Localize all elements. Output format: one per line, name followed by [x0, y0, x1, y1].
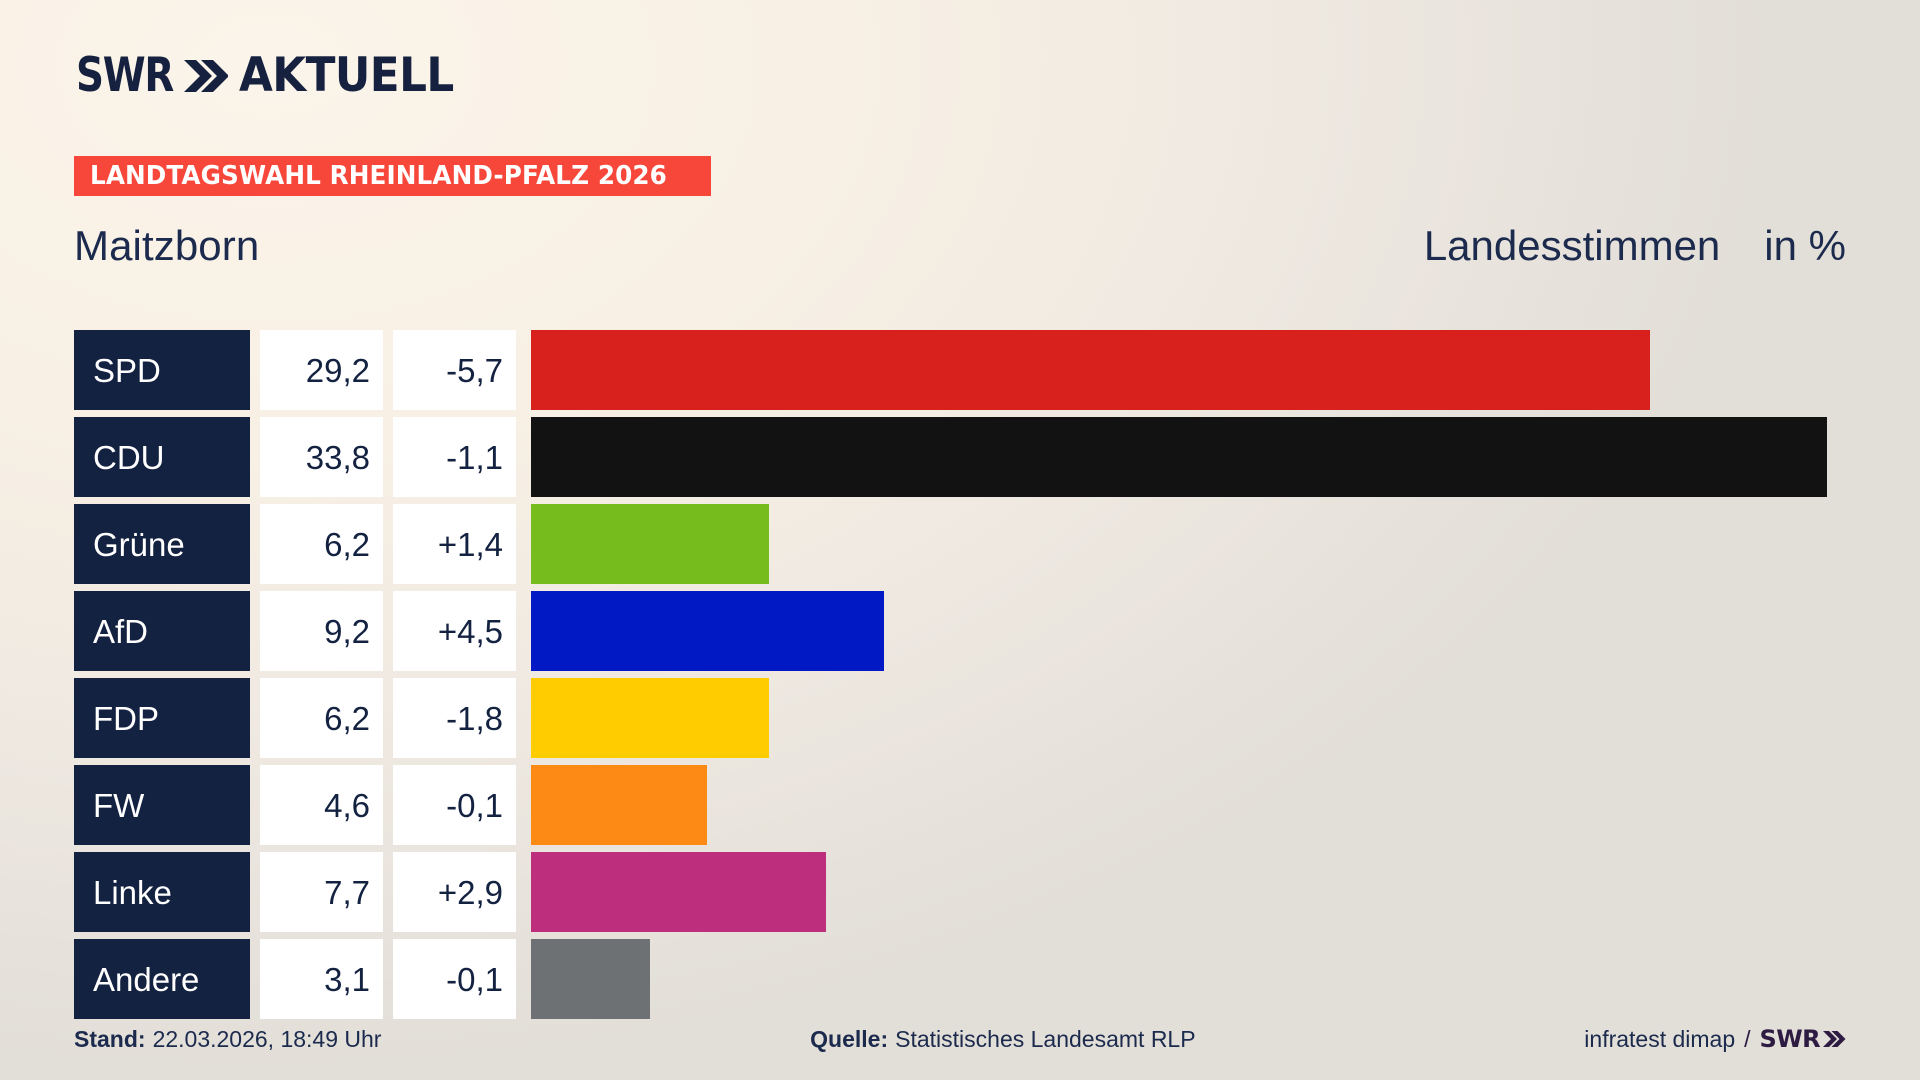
- party-share-value: 33,8: [306, 441, 370, 474]
- party-change-cell: +2,9: [393, 852, 516, 932]
- party-share-value: 4,6: [324, 789, 370, 822]
- party-name: FDP: [93, 702, 159, 735]
- bar-track: [531, 678, 1846, 758]
- party-name: Grüne: [93, 528, 185, 561]
- party-name: CDU: [93, 441, 165, 474]
- chart-row: Grüne6,2+1,4: [74, 504, 1846, 584]
- footer-source: Quelle:Statistisches Landesamt RLP: [381, 1026, 1584, 1053]
- party-share-value: 6,2: [324, 528, 370, 561]
- result-bar: [531, 330, 1650, 410]
- party-change-value: +2,9: [438, 876, 503, 909]
- infographic-root: SWR AKTUELL LANDTAGSWAHL RHEINLAND-PFALZ…: [0, 0, 1920, 1080]
- bar-track: [531, 852, 1846, 932]
- stand-label: Stand:: [74, 1026, 146, 1052]
- party-change-cell: -5,7: [393, 330, 516, 410]
- chart-row: AfD9,2+4,5: [74, 591, 1846, 671]
- credits-separator: /: [1744, 1026, 1750, 1053]
- chart-row: CDU33,8-1,1: [74, 417, 1846, 497]
- stand-value: 22.03.2026, 18:49 Uhr: [153, 1026, 382, 1052]
- chart-header-labels: Landesstimmen in %: [1424, 225, 1846, 267]
- party-share-value: 7,7: [324, 876, 370, 909]
- subheader-row: Maitzborn Landesstimmen in %: [74, 218, 1846, 274]
- party-change-value: -1,8: [446, 702, 503, 735]
- footer: Stand:22.03.2026, 18:49 Uhr Quelle:Stati…: [74, 1022, 1846, 1056]
- result-bar: [531, 504, 769, 584]
- party-change-cell: -1,8: [393, 678, 516, 758]
- party-change-value: -0,1: [446, 963, 503, 996]
- result-bar: [531, 591, 884, 671]
- result-bar: [531, 852, 826, 932]
- result-bar: [531, 678, 769, 758]
- party-name: Andere: [93, 963, 199, 996]
- footer-credits: infratest dimap / SWR: [1584, 1025, 1846, 1053]
- logo-swr-text: SWR: [76, 52, 173, 99]
- quelle-value: Statistisches Landesamt RLP: [895, 1026, 1195, 1052]
- bar-track: [531, 417, 1846, 497]
- bar-track: [531, 330, 1846, 410]
- footer-swr-text: SWR: [1760, 1025, 1820, 1053]
- agency-name: infratest dimap: [1584, 1026, 1735, 1053]
- double-chevron-right-icon: [182, 56, 228, 96]
- party-change-cell: -0,1: [393, 765, 516, 845]
- party-share-cell: 29,2: [260, 330, 383, 410]
- party-share-value: 9,2: [324, 615, 370, 648]
- page-title: Maitzborn: [74, 225, 259, 267]
- party-change-value: -0,1: [446, 789, 503, 822]
- party-name: SPD: [93, 354, 161, 387]
- party-share-cell: 33,8: [260, 417, 383, 497]
- chart-row: Linke7,7+2,9: [74, 852, 1846, 932]
- party-share-value: 6,2: [324, 702, 370, 735]
- party-share-value: 29,2: [306, 354, 370, 387]
- result-bar: [531, 417, 1827, 497]
- chart-row: SPD29,2-5,7: [74, 330, 1846, 410]
- party-change-cell: -0,1: [393, 939, 516, 1019]
- party-share-cell: 6,2: [260, 504, 383, 584]
- chart-row: Andere3,1-0,1: [74, 939, 1846, 1019]
- bar-track: [531, 939, 1846, 1019]
- party-label-cell: FDP: [74, 678, 250, 758]
- party-change-value: -1,1: [446, 441, 503, 474]
- party-change-cell: +1,4: [393, 504, 516, 584]
- party-label-cell: Andere: [74, 939, 250, 1019]
- party-change-value: -5,7: [446, 354, 503, 387]
- party-share-cell: 4,6: [260, 765, 383, 845]
- bar-track: [531, 591, 1846, 671]
- party-label-cell: SPD: [74, 330, 250, 410]
- bar-track: [531, 504, 1846, 584]
- footer-double-chevron-right-icon: [1821, 1029, 1846, 1049]
- party-name: FW: [93, 789, 144, 822]
- party-share-cell: 6,2: [260, 678, 383, 758]
- party-share-cell: 3,1: [260, 939, 383, 1019]
- vote-type-label: Landesstimmen: [1424, 225, 1720, 267]
- party-label-cell: Linke: [74, 852, 250, 932]
- quelle-label: Quelle:: [810, 1026, 888, 1052]
- party-change-cell: +4,5: [393, 591, 516, 671]
- results-chart: SPD29,2-5,7CDU33,8-1,1Grüne6,2+1,4AfD9,2…: [74, 330, 1846, 1019]
- party-label-cell: Grüne: [74, 504, 250, 584]
- party-change-value: +1,4: [438, 528, 503, 561]
- party-label-cell: AfD: [74, 591, 250, 671]
- party-name: Linke: [93, 876, 172, 909]
- unit-label: in %: [1764, 225, 1846, 267]
- party-share-cell: 7,7: [260, 852, 383, 932]
- party-label-cell: CDU: [74, 417, 250, 497]
- election-banner-text: LANDTAGSWAHL RHEINLAND-PFALZ 2026: [90, 161, 667, 191]
- party-name: AfD: [93, 615, 148, 648]
- party-label-cell: FW: [74, 765, 250, 845]
- result-bar: [531, 939, 650, 1019]
- party-change-cell: -1,1: [393, 417, 516, 497]
- chart-row: FDP6,2-1,8: [74, 678, 1846, 758]
- footer-stand: Stand:22.03.2026, 18:49 Uhr: [74, 1026, 381, 1053]
- result-bar: [531, 765, 707, 845]
- footer-swr-logo: SWR: [1760, 1025, 1846, 1053]
- party-change-value: +4,5: [438, 615, 503, 648]
- party-share-value: 3,1: [324, 963, 370, 996]
- party-share-cell: 9,2: [260, 591, 383, 671]
- election-banner: LANDTAGSWAHL RHEINLAND-PFALZ 2026: [74, 156, 711, 196]
- chart-row: FW4,6-0,1: [74, 765, 1846, 845]
- bar-track: [531, 765, 1846, 845]
- swr-aktuell-logo: SWR AKTUELL: [76, 52, 470, 99]
- logo-aktuell-text: AKTUELL: [239, 52, 454, 99]
